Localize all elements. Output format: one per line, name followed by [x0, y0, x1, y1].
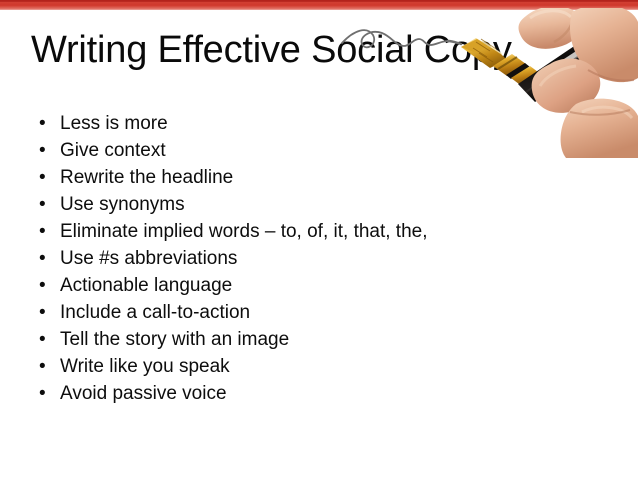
hand-with-pen-photo: [330, 8, 638, 158]
list-item-label: Avoid passive voice: [60, 383, 227, 404]
bullet-dot-icon: •: [39, 353, 46, 380]
list-item: • Tell the story with an image: [36, 326, 428, 353]
bullet-dot-icon: •: [39, 272, 46, 299]
list-item: • Avoid passive voice: [36, 380, 428, 407]
list-item: • Eliminate implied words – to, of, it, …: [36, 218, 428, 245]
list-item-label: Write like you speak: [60, 356, 230, 377]
list-item: • Write like you speak: [36, 353, 428, 380]
list-item-label: Rewrite the headline: [60, 167, 233, 188]
bullet-dot-icon: •: [39, 380, 46, 407]
list-item-label: Actionable language: [60, 275, 232, 296]
list-item-label: Eliminate implied words – to, of, it, th…: [60, 221, 428, 242]
list-item: • Rewrite the headline: [36, 164, 428, 191]
list-item-label: Use synonyms: [60, 194, 185, 215]
list-item-label: Less is more: [60, 113, 168, 134]
list-item: • Use synonyms: [36, 191, 428, 218]
bullet-dot-icon: •: [39, 299, 46, 326]
list-item: • Include a call-to-action: [36, 299, 428, 326]
hand-icon: [519, 8, 638, 158]
list-item: • Use #s abbreviations: [36, 245, 428, 272]
list-item-label: Tell the story with an image: [60, 329, 289, 350]
list-item: • Actionable language: [36, 272, 428, 299]
slide-canvas: Writing Effective Social Copy • Less is …: [0, 0, 638, 479]
ink-scribble-icon: [342, 30, 461, 47]
list-item-label: Give context: [60, 140, 166, 161]
list-item-label: Use #s abbreviations: [60, 248, 237, 269]
list-item-label: Include a call-to-action: [60, 302, 250, 323]
bullet-dot-icon: •: [39, 218, 46, 245]
bullet-dot-icon: •: [39, 326, 46, 353]
bullet-dot-icon: •: [39, 164, 46, 191]
bullet-dot-icon: •: [39, 191, 46, 218]
bullet-dot-icon: •: [39, 137, 46, 164]
bullet-dot-icon: •: [39, 110, 46, 137]
bullet-dot-icon: •: [39, 245, 46, 272]
